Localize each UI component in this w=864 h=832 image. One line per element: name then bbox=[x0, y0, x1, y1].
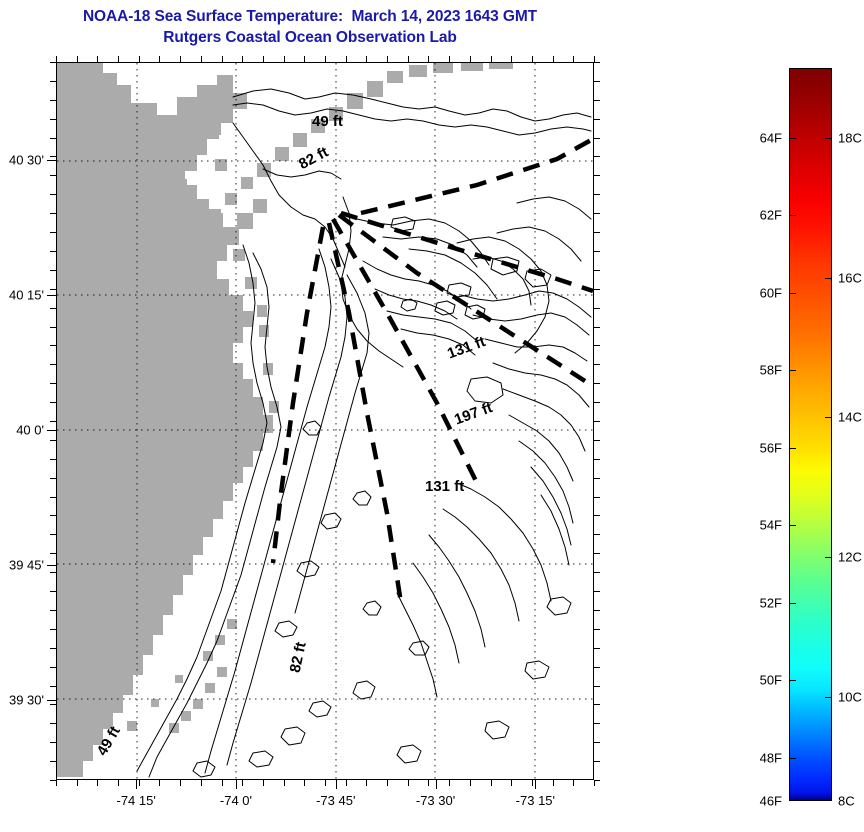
y-axis-minor-tick bbox=[50, 723, 56, 724]
colorbar-container[interactable] bbox=[789, 68, 832, 801]
colorbar-fahrenheit-label: 48F bbox=[0, 750, 782, 765]
x-axis-tick bbox=[136, 780, 137, 789]
colorbar-celsius-label: 18C bbox=[838, 131, 862, 146]
x-axis-minor-tick bbox=[263, 780, 264, 786]
colorbar-fahrenheit-tick bbox=[789, 758, 796, 759]
x-axis-minor-tick bbox=[222, 780, 223, 786]
y-axis-minor-tick bbox=[50, 156, 56, 157]
y-axis-minor-tick-right bbox=[594, 308, 600, 309]
x-axis-minor-tick bbox=[428, 780, 429, 786]
y-axis-tick bbox=[47, 565, 56, 566]
colorbar-fahrenheit-tick bbox=[789, 370, 796, 371]
x-axis-tick bbox=[436, 780, 437, 789]
y-axis-minor-tick-right bbox=[594, 194, 600, 195]
y-axis-minor-tick bbox=[50, 497, 56, 498]
x-axis-minor-tick bbox=[118, 780, 119, 786]
y-axis-minor-tick bbox=[50, 270, 56, 271]
y-axis-minor-tick-right bbox=[594, 572, 600, 573]
y-axis-minor-tick bbox=[50, 345, 56, 346]
x-axis-minor-tick-top bbox=[553, 56, 554, 62]
y-axis-minor-tick-right bbox=[594, 459, 600, 460]
y-axis-tick-label: 39 30' bbox=[0, 692, 44, 707]
y-axis-minor-tick bbox=[50, 194, 56, 195]
colorbar-fahrenheit-label: 52F bbox=[0, 595, 782, 610]
x-axis-minor-tick bbox=[346, 780, 347, 786]
y-axis-minor-tick bbox=[50, 515, 56, 516]
y-axis-minor-tick-right bbox=[594, 175, 600, 176]
colorbar-fahrenheit-label: 54F bbox=[0, 518, 782, 533]
y-axis-tick-label: 40 0' bbox=[0, 422, 44, 437]
y-axis-minor-tick-right bbox=[594, 119, 600, 120]
y-axis-minor-tick-right bbox=[594, 81, 600, 82]
y-axis-minor-tick bbox=[50, 478, 56, 479]
x-axis-minor-tick-top bbox=[97, 56, 98, 62]
x-axis-minor-tick-top bbox=[118, 56, 119, 62]
colorbar-fahrenheit-label: 46F bbox=[0, 794, 782, 809]
y-axis-minor-tick bbox=[50, 591, 56, 592]
x-axis-minor-tick-top bbox=[77, 56, 78, 62]
x-axis-minor-tick-top bbox=[242, 56, 243, 62]
x-axis-minor-tick bbox=[511, 780, 512, 786]
y-axis-minor-tick bbox=[50, 780, 56, 781]
colorbar-fahrenheit-tick bbox=[789, 448, 796, 449]
y-axis-minor-tick-right bbox=[594, 704, 600, 705]
y-axis-minor-tick bbox=[50, 402, 56, 403]
x-axis-tick bbox=[336, 780, 337, 789]
y-axis-minor-tick-right bbox=[594, 251, 600, 252]
x-axis-minor-tick bbox=[159, 780, 160, 786]
colorbar-fahrenheit-label: 64F bbox=[0, 131, 782, 146]
x-axis-minor-tick-top bbox=[284, 56, 285, 62]
y-axis-minor-tick-right bbox=[594, 780, 600, 781]
map-canvas bbox=[57, 63, 593, 779]
colorbar-celsius-tick bbox=[825, 417, 832, 418]
y-axis-minor-tick bbox=[50, 704, 56, 705]
y-axis-minor-tick-right bbox=[594, 629, 600, 630]
colorbar-fahrenheit-label: 62F bbox=[0, 208, 782, 223]
y-axis-minor-tick bbox=[50, 119, 56, 120]
colorbar-celsius-tick bbox=[825, 557, 832, 558]
y-axis-minor-tick bbox=[50, 534, 56, 535]
x-axis-minor-tick-top bbox=[387, 56, 388, 62]
x-axis-minor-tick bbox=[470, 780, 471, 786]
x-axis-tick bbox=[236, 780, 237, 789]
x-axis-minor-tick-top bbox=[366, 56, 367, 62]
y-axis-minor-tick-right bbox=[594, 156, 600, 157]
y-axis-minor-tick-right bbox=[594, 421, 600, 422]
y-axis-minor-tick bbox=[50, 742, 56, 743]
y-axis-minor-tick bbox=[50, 308, 56, 309]
colorbar-fahrenheit-tick bbox=[789, 603, 796, 604]
map-graphics bbox=[57, 63, 593, 779]
colorbar-celsius-label: 16C bbox=[838, 270, 862, 285]
x-axis-minor-tick-top bbox=[180, 56, 181, 62]
y-axis-minor-tick bbox=[50, 175, 56, 176]
y-axis-minor-tick-right bbox=[594, 62, 600, 63]
x-axis-minor-tick bbox=[201, 780, 202, 786]
x-axis-minor-tick bbox=[97, 780, 98, 786]
x-axis-minor-tick-top bbox=[470, 56, 471, 62]
x-axis-tick bbox=[535, 780, 536, 789]
y-axis-minor-tick bbox=[50, 327, 56, 328]
colorbar-fahrenheit-label: 56F bbox=[0, 440, 782, 455]
colorbar-fahrenheit-tick bbox=[789, 138, 796, 139]
colorbar-fahrenheit-label: 60F bbox=[0, 285, 782, 300]
x-axis-minor-tick-top bbox=[222, 56, 223, 62]
y-axis-minor-tick-right bbox=[594, 591, 600, 592]
y-axis-minor-tick-right bbox=[594, 667, 600, 668]
y-axis-minor-tick bbox=[50, 100, 56, 101]
x-axis-minor-tick bbox=[180, 780, 181, 786]
x-axis-minor-tick-top bbox=[263, 56, 264, 62]
y-axis-minor-tick-right bbox=[594, 327, 600, 328]
y-axis-tick-label: 40 30' bbox=[0, 153, 44, 168]
y-axis-minor-tick bbox=[50, 572, 56, 573]
x-axis-minor-tick bbox=[139, 780, 140, 786]
colorbar-fahrenheit-tick bbox=[789, 680, 796, 681]
colorbar-gradient bbox=[789, 68, 832, 801]
x-axis-minor-tick-top bbox=[346, 56, 347, 62]
colorbar-fahrenheit-tick bbox=[789, 525, 796, 526]
x-axis-minor-tick-top bbox=[573, 56, 574, 62]
colorbar-fahrenheit-label: 58F bbox=[0, 363, 782, 378]
colorbar-celsius-label: 12C bbox=[838, 549, 862, 564]
colorbar-fahrenheit-label: 50F bbox=[0, 673, 782, 688]
y-axis-minor-tick-right bbox=[594, 232, 600, 233]
y-axis-minor-tick-right bbox=[594, 100, 600, 101]
y-axis-minor-tick-right bbox=[594, 553, 600, 554]
x-axis-minor-tick bbox=[532, 780, 533, 786]
x-axis-minor-tick bbox=[408, 780, 409, 786]
x-axis-minor-tick bbox=[77, 780, 78, 786]
x-axis-minor-tick bbox=[284, 780, 285, 786]
x-axis-minor-tick-top bbox=[491, 56, 492, 62]
y-axis-minor-tick bbox=[50, 251, 56, 252]
y-axis-minor-tick bbox=[50, 629, 56, 630]
title-line-1: NOAA-18 Sea Surface Temperature: March 1… bbox=[0, 6, 620, 27]
y-axis-tick bbox=[47, 160, 56, 161]
y-axis-minor-tick-right bbox=[594, 723, 600, 724]
y-axis-minor-tick-right bbox=[594, 478, 600, 479]
colorbar-celsius-label: 14C bbox=[838, 410, 862, 425]
x-axis-minor-tick bbox=[387, 780, 388, 786]
y-axis-minor-tick bbox=[50, 383, 56, 384]
y-axis-minor-tick bbox=[50, 232, 56, 233]
colorbar-celsius-tick bbox=[825, 278, 832, 279]
colorbar-fahrenheit-tick bbox=[789, 215, 796, 216]
colorbar-celsius-tick bbox=[825, 697, 832, 698]
x-axis-minor-tick bbox=[242, 780, 243, 786]
depth-label: 49 ft bbox=[312, 113, 343, 130]
y-axis-minor-tick bbox=[50, 553, 56, 554]
y-axis-minor-tick-right bbox=[594, 345, 600, 346]
x-axis-minor-tick-top bbox=[428, 56, 429, 62]
x-axis-minor-tick bbox=[573, 780, 574, 786]
y-axis-minor-tick bbox=[50, 421, 56, 422]
y-axis-minor-tick-right bbox=[594, 497, 600, 498]
x-axis-minor-tick bbox=[491, 780, 492, 786]
colorbar-celsius-label: 8C bbox=[838, 794, 855, 809]
colorbar-fahrenheit-tick bbox=[789, 293, 796, 294]
x-axis-minor-tick-top bbox=[325, 56, 326, 62]
y-axis-minor-tick bbox=[50, 667, 56, 668]
y-axis-tick bbox=[47, 430, 56, 431]
x-axis-minor-tick bbox=[56, 780, 57, 786]
x-axis-minor-tick-top bbox=[304, 56, 305, 62]
y-axis-minor-tick bbox=[50, 648, 56, 649]
y-axis-minor-tick-right bbox=[594, 402, 600, 403]
x-axis-minor-tick bbox=[553, 780, 554, 786]
x-axis-minor-tick-top bbox=[139, 56, 140, 62]
y-axis-minor-tick-right bbox=[594, 534, 600, 535]
y-axis-minor-tick bbox=[50, 62, 56, 63]
y-axis-minor-tick-right bbox=[594, 383, 600, 384]
y-axis-minor-tick-right bbox=[594, 270, 600, 271]
colorbar-celsius-tick bbox=[825, 138, 832, 139]
x-axis-minor-tick bbox=[325, 780, 326, 786]
x-axis-minor-tick-top bbox=[201, 56, 202, 62]
x-axis-minor-tick-top bbox=[532, 56, 533, 62]
y-axis-tick-label: 39 45' bbox=[0, 557, 44, 572]
colorbar-celsius-label: 10C bbox=[838, 689, 862, 704]
depth-label: 131 ft bbox=[425, 478, 464, 495]
page-title: NOAA-18 Sea Surface Temperature: March 1… bbox=[0, 6, 620, 48]
x-axis-minor-tick-top bbox=[449, 56, 450, 62]
x-axis-minor-tick-top bbox=[159, 56, 160, 62]
x-axis-minor-tick bbox=[304, 780, 305, 786]
x-axis-minor-tick bbox=[449, 780, 450, 786]
x-axis-minor-tick-top bbox=[511, 56, 512, 62]
y-axis-minor-tick bbox=[50, 459, 56, 460]
x-axis-minor-tick bbox=[366, 780, 367, 786]
x-axis-minor-tick-top bbox=[56, 56, 57, 62]
title-line-2: Rutgers Coastal Ocean Observation Lab bbox=[0, 27, 620, 48]
y-axis-minor-tick bbox=[50, 81, 56, 82]
y-axis-minor-tick-right bbox=[594, 648, 600, 649]
y-axis-minor-tick-right bbox=[594, 742, 600, 743]
x-axis-minor-tick-top bbox=[408, 56, 409, 62]
y-axis-minor-tick-right bbox=[594, 515, 600, 516]
y-axis-tick bbox=[47, 700, 56, 701]
